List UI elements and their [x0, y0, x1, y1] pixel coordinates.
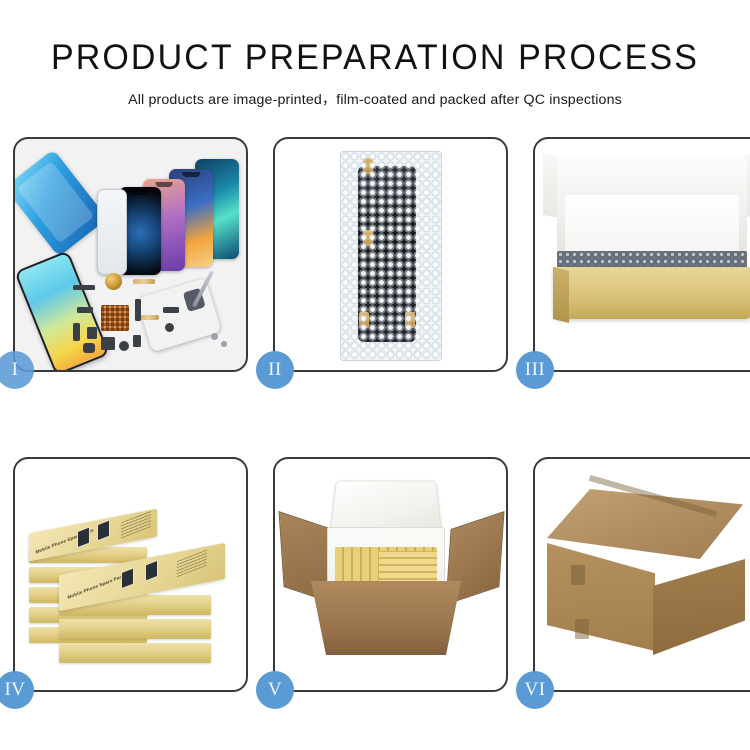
- phone-icon: [15, 250, 110, 370]
- page-subtitle: All products are image-printed，film-coat…: [0, 89, 750, 109]
- step-1-illustration: [15, 139, 246, 370]
- small-part-icon: [135, 299, 141, 321]
- kraft-box-icon: [553, 267, 750, 319]
- carton-top-icon: [547, 489, 743, 559]
- small-part-icon: [163, 307, 179, 313]
- small-part-icon: [73, 323, 80, 341]
- phone-lineup-icon: [99, 157, 245, 269]
- carton-front-icon: [547, 543, 655, 651]
- step-badge-6: VI: [516, 671, 554, 709]
- box-stack-icon: Mobile Phone Spare Parts Mobile Phone Sp…: [27, 489, 235, 669]
- carton-tape-icon: [571, 565, 585, 585]
- screw-icon: [211, 333, 218, 340]
- small-part-icon: [73, 285, 95, 290]
- box-label: Mobile Phone Spare Parts: [67, 573, 126, 600]
- carton-tape-icon: [575, 619, 589, 639]
- speaker-coil-icon: [105, 273, 122, 290]
- foam-pad-icon: [557, 155, 747, 255]
- small-part-icon: [165, 323, 174, 332]
- small-part-icon: [87, 327, 97, 339]
- carton-side-icon: [653, 559, 745, 655]
- process-step-panel-4[interactable]: Mobile Phone Spare Parts Mobile Phone Sp…: [13, 457, 248, 692]
- chip-grid-icon: [101, 305, 129, 331]
- small-part-icon: [101, 337, 115, 350]
- small-part-icon: [133, 335, 141, 347]
- process-step-panel-1[interactable]: I: [13, 137, 248, 372]
- small-part-icon: [77, 307, 93, 313]
- carton-body-icon: [311, 581, 461, 655]
- process-step-panel-2[interactable]: II: [273, 137, 508, 372]
- screw-icon: [221, 341, 227, 347]
- step-3-illustration: [535, 139, 750, 370]
- process-step-grid: I II III: [13, 137, 737, 692]
- step-badge-1: I: [0, 351, 34, 389]
- step-badge-3: III: [516, 351, 554, 389]
- yellow-boxes-icon: [379, 551, 437, 585]
- process-step-panel-3[interactable]: III: [533, 137, 750, 372]
- page-header: PRODUCT PREPARATION PROCESS All products…: [0, 0, 750, 109]
- screen-protector-icon: [15, 149, 108, 257]
- phone-icon: [97, 189, 127, 275]
- bubble-texture: [341, 152, 441, 360]
- small-part-icon: [83, 343, 95, 353]
- flex-cable-icon: [139, 315, 159, 320]
- process-step-panel-5[interactable]: V: [273, 457, 508, 692]
- step-badge-5: V: [256, 671, 294, 709]
- page-title: PRODUCT PREPARATION PROCESS: [11, 40, 739, 77]
- step-badge-4: IV: [0, 671, 34, 709]
- step-badge-2: II: [256, 351, 294, 389]
- step-5-illustration: [275, 459, 506, 690]
- process-step-panel-6[interactable]: VI: [533, 457, 750, 692]
- step-4-illustration: Mobile Phone Spare Parts Mobile Phone Sp…: [15, 459, 246, 690]
- flex-cable-icon: [133, 279, 155, 284]
- step-2-illustration: [275, 139, 506, 370]
- bubble-wrap-bag-icon: [340, 151, 442, 361]
- step-6-illustration: [535, 459, 750, 690]
- small-part-icon: [119, 341, 129, 351]
